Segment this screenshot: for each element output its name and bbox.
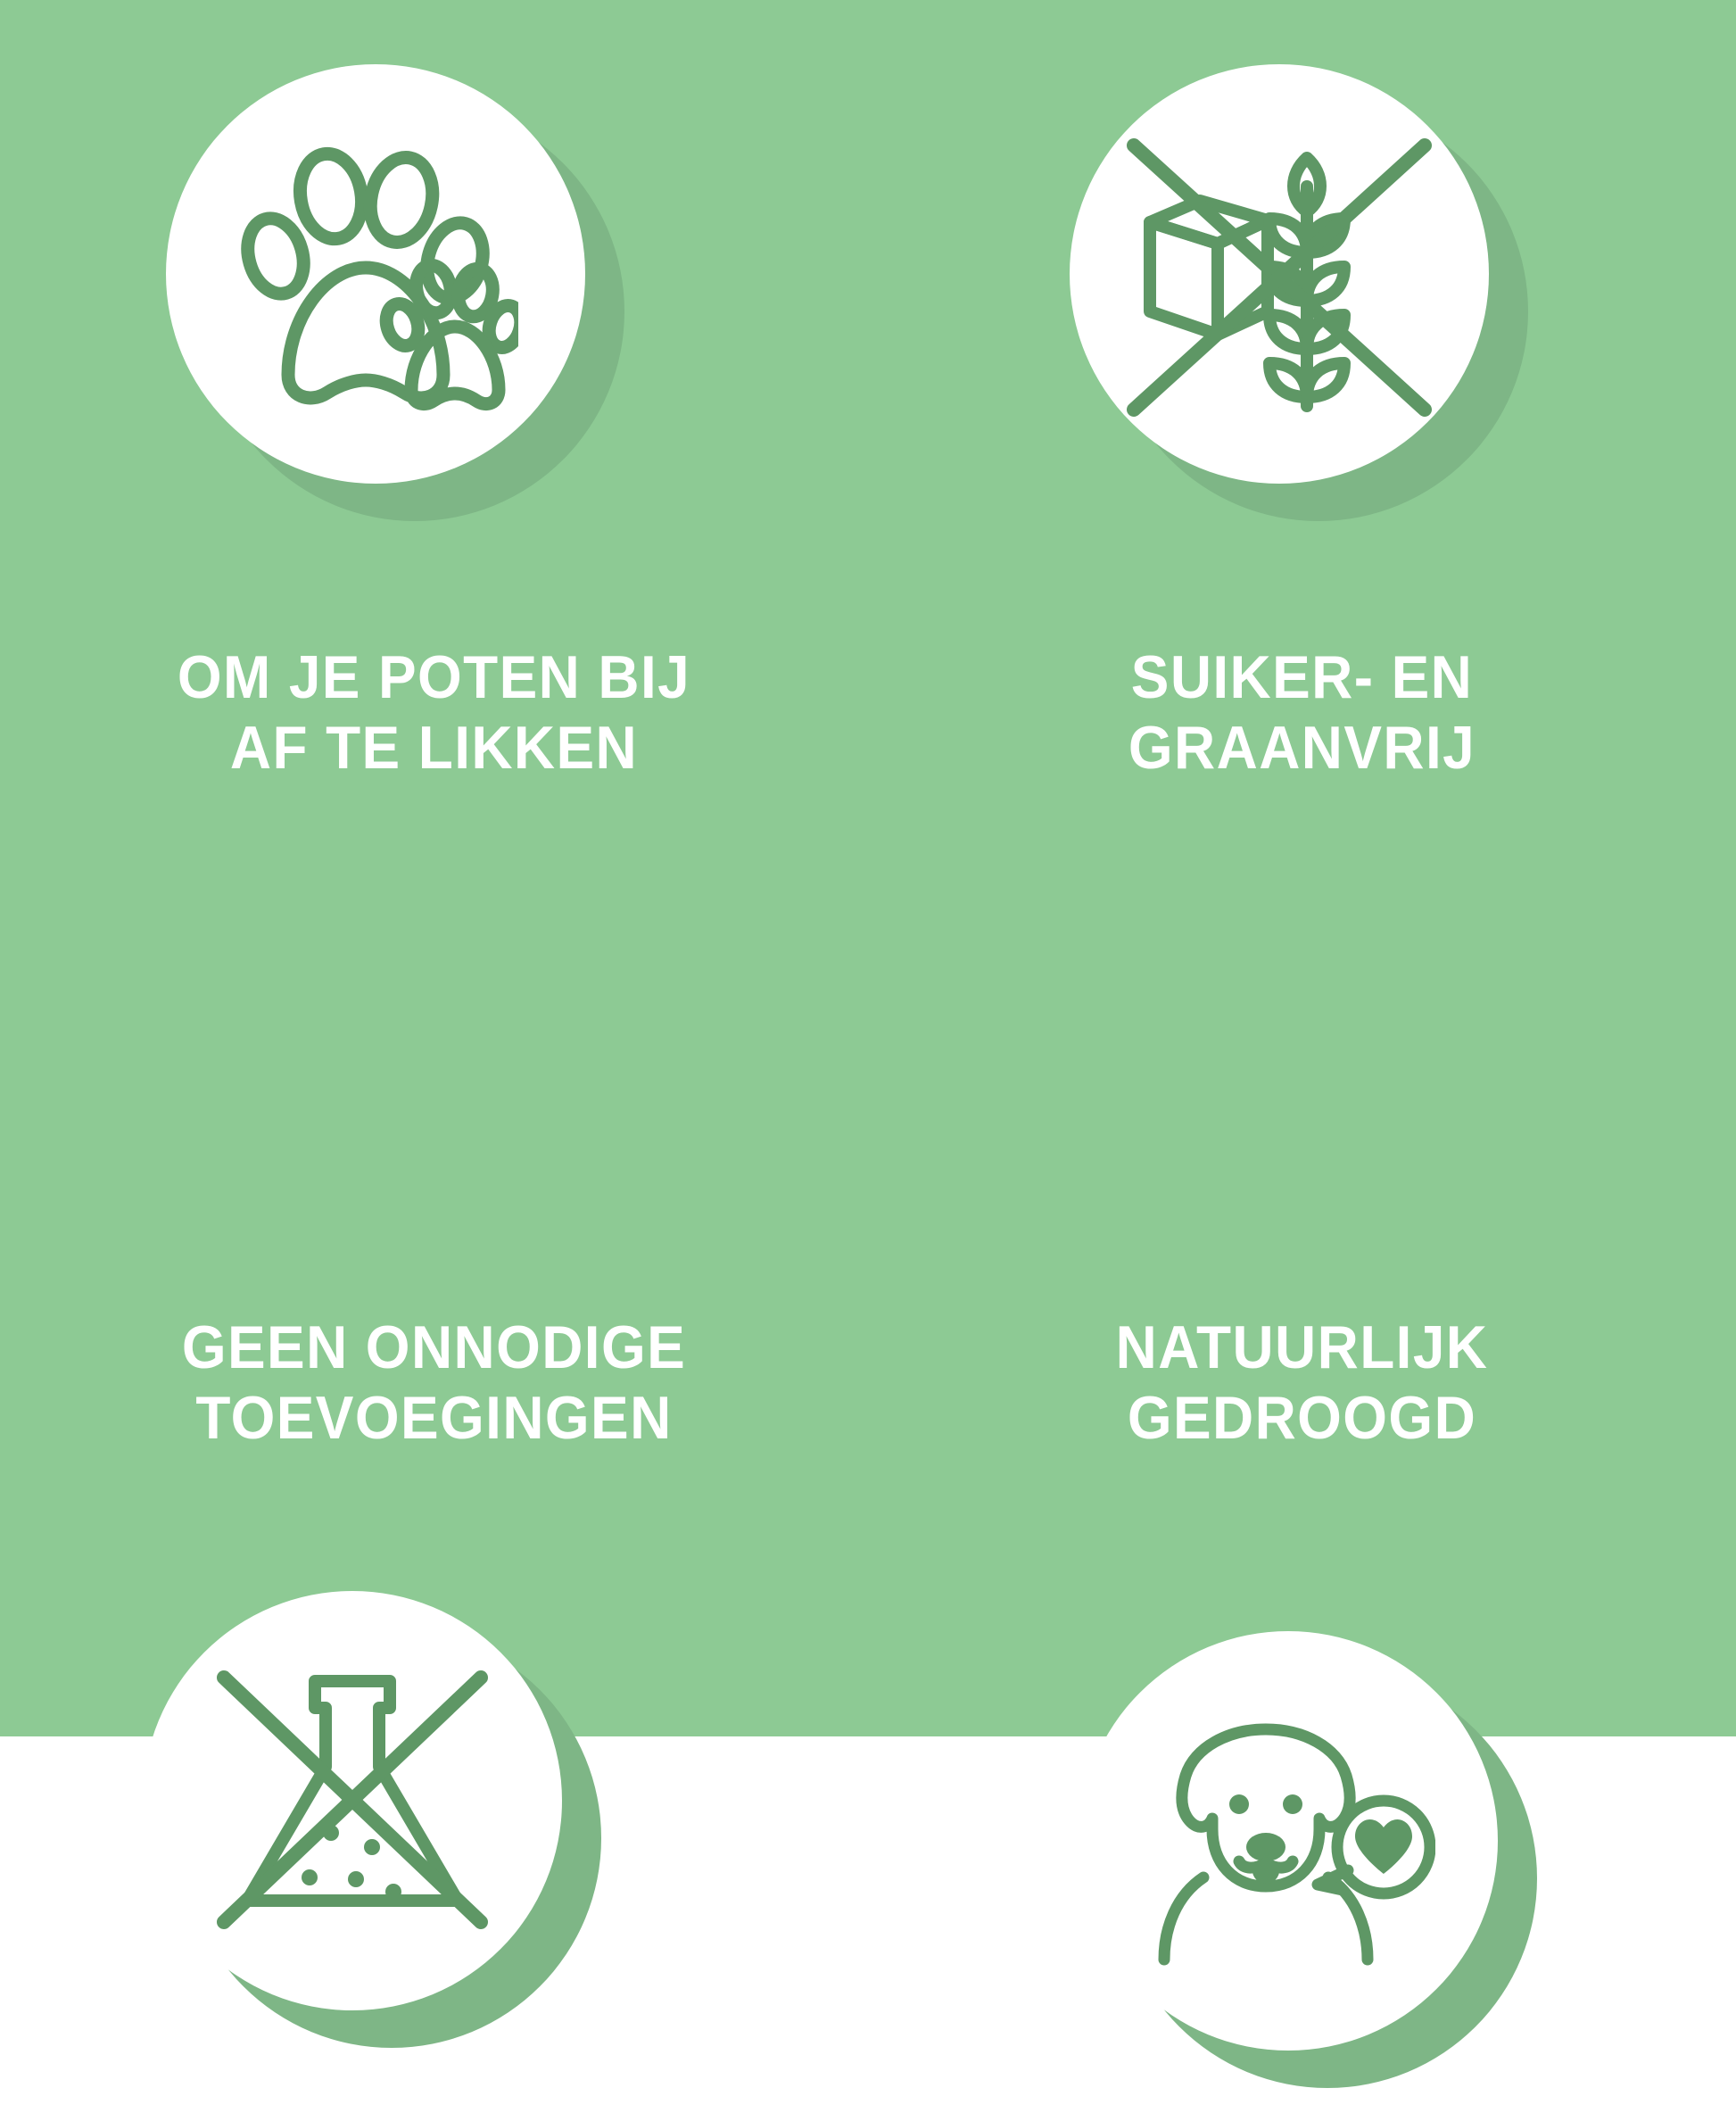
no-chemicals-flask-icon xyxy=(143,1591,562,2010)
benefit-label: OM JE POTEN BIJ AF TE LIKKEN xyxy=(26,642,842,783)
paw-print-icon xyxy=(166,64,585,484)
badge-paw xyxy=(166,64,648,546)
benefit-label: NATUURLIJK GEDROOGD xyxy=(894,1313,1710,1454)
benefit-card-dog: NATUURLIJK GEDROOGD xyxy=(868,868,1736,1736)
heart-speech-bubble-icon xyxy=(1318,1801,1430,1893)
badge-additives xyxy=(143,1591,624,2073)
benefit-label: GEEN ONNODIGE TOEVOEGINGEN xyxy=(26,1313,842,1454)
benefit-card-additives: GEEN ONNODIGE TOEVOEGINGEN xyxy=(0,868,868,1736)
dog-head-icon xyxy=(1182,1729,1350,1886)
benefit-label: SUIKER- EN GRAANVRIJ xyxy=(894,642,1710,783)
no-sugar-no-grain-icon xyxy=(1070,64,1489,484)
badge-dog xyxy=(1079,1631,1560,2113)
benefits-board: OM JE POTEN BIJ AF TE LIKKEN xyxy=(0,0,1736,1736)
happy-dog-icon xyxy=(1079,1631,1498,2051)
benefit-card-paw: OM JE POTEN BIJ AF TE LIKKEN xyxy=(0,0,868,868)
badge-sugar-grain xyxy=(1070,64,1551,546)
benefit-card-sugar-grain: SUIKER- EN GRAANVRIJ xyxy=(868,0,1736,868)
